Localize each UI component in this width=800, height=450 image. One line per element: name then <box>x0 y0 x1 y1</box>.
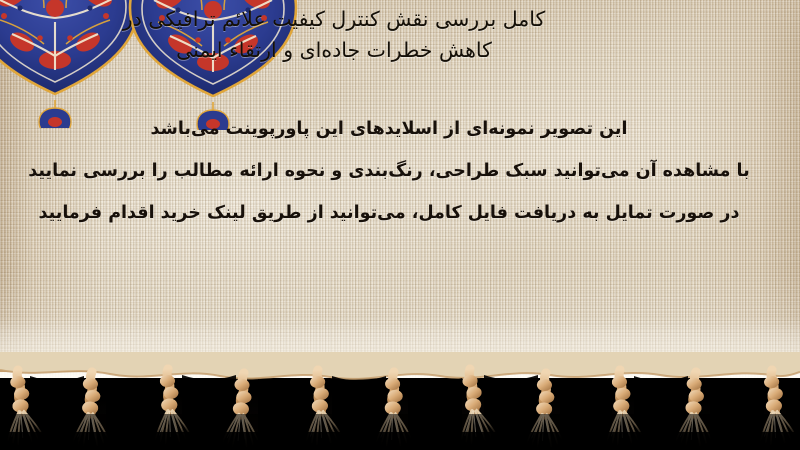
title-line-2: کاهش خطرات جاده‌ای و ارتقاء ایمنی <box>0 35 668 66</box>
body-line-2: با مشاهده آن می‌توانید سبک طراحی، رنگ‌بن… <box>0 150 778 192</box>
body-line-3: در صورت تمایل به دریافت فایل کامل، می‌تو… <box>0 192 778 234</box>
slide-canvas: کامل بررسی نقش کنترل کیفیت علائم ترافیکی… <box>0 0 800 450</box>
body-line-1: این تصویر نمونه‌ای از اسلایدهای این پاور… <box>0 108 778 150</box>
carpet-fringe-tassels <box>0 352 800 450</box>
title-line-1: کامل بررسی نقش کنترل کیفیت علائم ترافیکی… <box>123 7 545 31</box>
slide-title: کامل بررسی نقش کنترل کیفیت علائم ترافیکی… <box>0 4 788 66</box>
slide-body: این تصویر نمونه‌ای از اسلایدهای این پاور… <box>0 108 778 234</box>
